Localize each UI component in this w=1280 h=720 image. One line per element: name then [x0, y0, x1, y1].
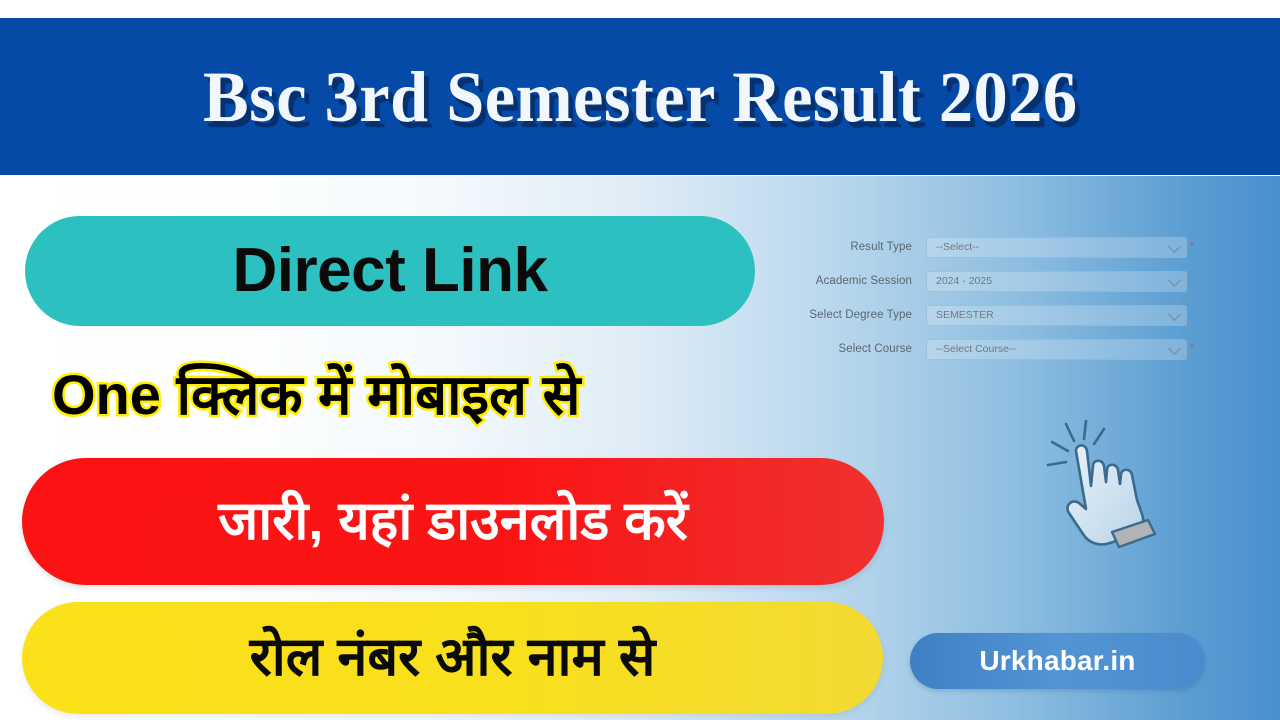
chevron-down-icon[interactable]: [1168, 274, 1181, 287]
label-select-course: Select Course: [790, 343, 926, 355]
label-result-type: Result Type: [790, 241, 926, 253]
result-form-panel: Result Type --Select-- * Academic Sessio…: [790, 230, 1200, 370]
select-academic-session-value: 2024 - 2025: [936, 275, 992, 287]
select-degree-type-value: SEMESTER: [936, 309, 994, 321]
form-row-academic-session: Academic Session 2024 - 2025: [790, 264, 1200, 298]
chevron-down-icon[interactable]: [1168, 240, 1181, 253]
required-marker-select-course: *: [1190, 344, 1200, 354]
brand-badge[interactable]: Urkhabar.in: [910, 633, 1205, 689]
rollnumber-banner-label: रोल नंबर और नाम से: [250, 628, 656, 687]
page-title: Bsc 3rd Semester Result 2026: [203, 61, 1078, 133]
headline-outline-text: One क्लिक में मोबाइल से: [52, 355, 772, 435]
rollnumber-banner[interactable]: रोल नंबर और नाम से: [22, 602, 883, 714]
poster-canvas: Bsc 3rd Semester Result 2026 Result Type…: [0, 0, 1280, 720]
download-banner-label: जारी, यहां डाउनलोड करें: [218, 492, 688, 551]
direct-link-label: Direct Link: [233, 240, 548, 302]
form-row-degree-type: Select Degree Type SEMESTER: [790, 298, 1200, 332]
pointing-hand-click-icon: [1038, 410, 1178, 555]
select-result-type-value: --Select--: [936, 241, 979, 253]
brand-badge-label: Urkhabar.in: [979, 645, 1135, 677]
select-degree-type[interactable]: SEMESTER: [926, 305, 1187, 326]
form-row-select-course: Select Course --Select Course-- *: [790, 332, 1200, 366]
select-result-type[interactable]: --Select--: [926, 237, 1187, 258]
download-banner[interactable]: जारी, यहां डाउनलोड करें: [22, 458, 884, 585]
chevron-down-icon[interactable]: [1168, 342, 1181, 355]
select-academic-session[interactable]: 2024 - 2025: [926, 271, 1187, 292]
label-academic-session: Academic Session: [790, 275, 926, 287]
required-marker-result-type: *: [1190, 242, 1200, 252]
select-course-value: --Select Course--: [936, 343, 1016, 355]
form-row-result-type: Result Type --Select-- *: [790, 230, 1200, 264]
direct-link-button[interactable]: Direct Link: [25, 216, 755, 326]
label-select-degree-type: Select Degree Type: [790, 309, 926, 321]
headline-outline-label: One क्लिक में मोबाइल से: [52, 363, 580, 427]
select-course[interactable]: --Select Course--: [926, 339, 1187, 360]
chevron-down-icon[interactable]: [1168, 308, 1181, 321]
header-band: Bsc 3rd Semester Result 2026: [0, 18, 1280, 175]
